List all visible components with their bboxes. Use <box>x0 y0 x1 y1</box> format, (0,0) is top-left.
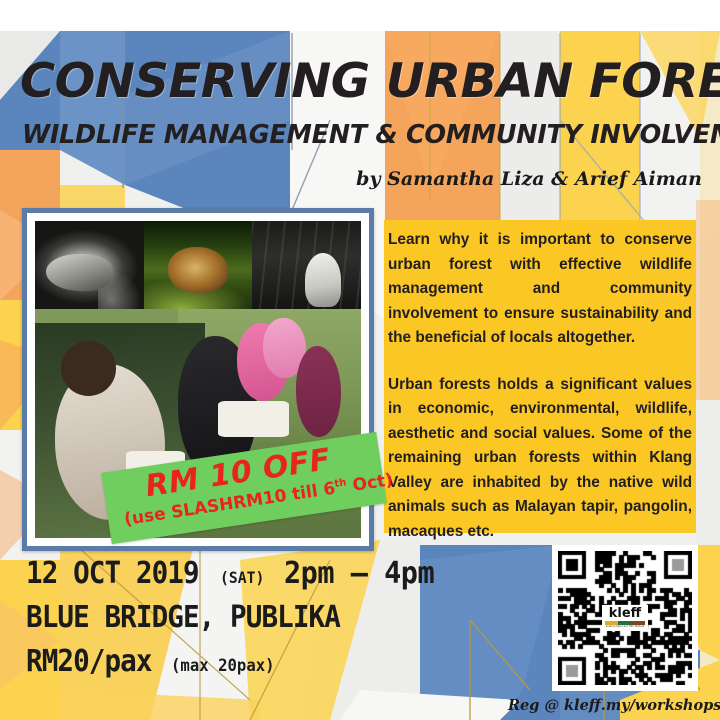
event-day: (SAT) <box>220 568 264 587</box>
event-capacity: (max 20pax) <box>171 656 275 676</box>
camera-trap-night-photo <box>252 221 361 309</box>
registration-url[interactable]: Reg @ kleff.my/workshops/ <box>508 697 720 714</box>
event-venue-row: BLUE BRIDGE, PUBLIKA <box>26 600 442 635</box>
qr-matrix[interactable]: kleff kuala lumpur eco film festival <box>558 551 692 685</box>
event-price-row: RM20/pax (max 20pax) <box>26 644 442 679</box>
kleff-logo: kleff kuala lumpur eco film festival <box>602 605 648 631</box>
event-date: 12 OCT 2019 <box>26 556 199 591</box>
registration-qr-code[interactable]: kleff kuala lumpur eco film festival <box>552 545 698 691</box>
event-time: 2pm – 4pm <box>284 556 434 591</box>
event-price: RM20/pax <box>26 644 152 679</box>
event-date-time-row: 12 OCT 2019 (SAT) 2pm – 4pm <box>26 556 442 591</box>
description-box: Learn why it is important to conserve ur… <box>384 220 696 533</box>
kleff-logo-text: kleff <box>609 607 641 620</box>
speaker-byline: by Samantha Liza & Arief Aiman <box>356 168 702 190</box>
description-paragraph-1: Learn why it is important to conserve ur… <box>388 228 692 351</box>
poster: THE 12th INTERNATIONAL KUALA LUMPUR ECO … <box>0 0 720 720</box>
camera-trap-wildboar-photo <box>144 221 253 309</box>
event-details: 12 OCT 2019 (SAT) 2pm – 4pm BLUE BRIDGE,… <box>26 556 442 679</box>
camera-trap-tapir-photo <box>35 221 144 309</box>
description-paragraph-2: Urban forests holds a significant values… <box>388 373 692 545</box>
photo-person-front-hair <box>61 341 116 396</box>
camera-trap-photo-row <box>35 221 361 309</box>
poster-subtitle: WILDLIFE MANAGEMENT & COMMUNITY INVOLVEM… <box>22 120 712 150</box>
photo-worksheet-right <box>218 401 290 438</box>
event-venue: BLUE BRIDGE, PUBLIKA <box>26 600 340 635</box>
poster-title: CONSERVING URBAN FOREST: <box>20 57 720 107</box>
header-strip <box>0 0 720 31</box>
kleff-logo-tagline: kuala lumpur eco film festival <box>606 626 644 629</box>
